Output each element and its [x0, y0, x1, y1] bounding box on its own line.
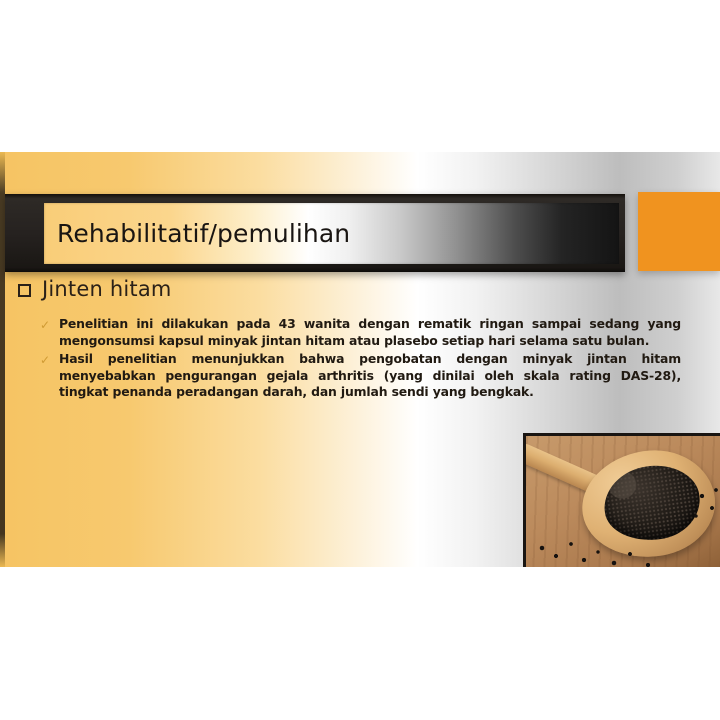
section-heading-text: Jinten hitam [42, 277, 172, 301]
list-item: ✓ Hasil penelitian menunjukkan bahwa pen… [40, 351, 681, 401]
slide-title-frame: Rehabilitatif/pemulihan [5, 194, 625, 272]
slide-title-text: Rehabilitatif/pemulihan [57, 219, 350, 248]
list-item-text: Penelitian ini dilakukan pada 43 wanita … [59, 316, 681, 349]
photo-wooden-table-background [526, 436, 720, 567]
presentation-slide: Rehabilitatif/pemulihan Jinten hitam ✓ P… [0, 152, 720, 567]
orange-accent-block [638, 192, 720, 271]
list-item-text: Hasil penelitian menunjukkan bahwa pengo… [59, 351, 681, 401]
section-heading: Jinten hitam [18, 277, 172, 301]
slide-title-plaque: Rehabilitatif/pemulihan [44, 203, 619, 264]
list-item: ✓ Penelitian ini dilakukan pada 43 wanit… [40, 316, 681, 349]
screenshot-root: Rehabilitatif/pemulihan Jinten hitam ✓ P… [0, 0, 720, 720]
black-cumin-seeds-photo [523, 433, 720, 567]
check-bullet-icon: ✓ [40, 316, 59, 334]
check-bullet-icon: ✓ [40, 351, 59, 369]
square-bullet-icon [18, 284, 31, 297]
bullet-list: ✓ Penelitian ini dilakukan pada 43 wanit… [40, 316, 681, 403]
scattered-seeds [526, 436, 720, 567]
